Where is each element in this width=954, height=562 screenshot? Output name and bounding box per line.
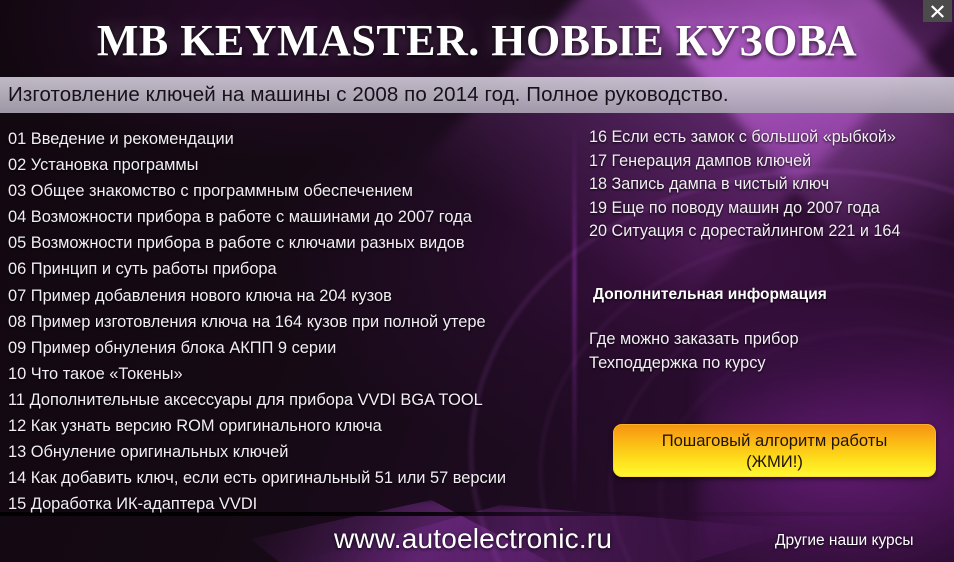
list-item: 18 Запись дампа в чистый ключ: [589, 173, 945, 197]
list-item: 01 Введение и рекомендации: [8, 126, 564, 152]
website-url[interactable]: www.autoelectronic.ru: [334, 523, 612, 555]
close-button[interactable]: [923, 0, 952, 22]
cta-line-1: Пошаговый алгоритм работы: [662, 430, 888, 451]
close-icon: [930, 4, 945, 19]
list-item: 07 Пример добавления нового ключа на 204…: [8, 283, 564, 309]
list-item: 11 Дополнительные аксессуары для прибора…: [8, 387, 564, 413]
list-item: 20 Ситуация с дорестайлингом 221 и 164: [589, 220, 945, 244]
list-item: Техподдержка по курсу: [589, 352, 799, 376]
subtitle-bar: Изготовление ключей на машины с 2008 по …: [0, 77, 954, 113]
list-item: 15 Доработка ИК-адаптера VVDI: [8, 491, 564, 517]
additional-info-heading: Дополнительная информация: [593, 286, 827, 304]
list-item: 06 Принцип и суть работы прибора: [8, 256, 564, 282]
additional-info-list: Где можно заказать прибор Техподдержка п…: [589, 328, 799, 375]
cta-line-2: (ЖМИ!): [746, 451, 803, 472]
list-item: 03 Общее знакомство с программным обеспе…: [8, 178, 564, 204]
list-item: 17 Генерация дампов ключей: [589, 150, 945, 174]
title-band: MB KEYMASTER. НОВЫЕ КУЗОВА: [0, 0, 954, 77]
contents-left-column: 01 Введение и рекомендации 02 Установка …: [8, 126, 564, 517]
list-item: 10 Что такое «Токены»: [8, 361, 564, 387]
list-item: 08 Пример изготовления ключа на 164 кузо…: [8, 309, 564, 335]
subtitle-text: Изготовление ключей на машины с 2008 по …: [8, 83, 729, 107]
list-item: 05 Возможности прибора в работе с ключам…: [8, 230, 564, 256]
list-item: 13 Обнуление оригинальных ключей: [8, 439, 564, 465]
list-item: Где можно заказать прибор: [589, 328, 799, 352]
list-item: 02 Установка программы: [8, 152, 564, 178]
contents-right-column: 16 Если есть замок с большой «рыбкой» 17…: [589, 126, 945, 244]
list-item: 19 Еще по поводу машин до 2007 года: [589, 197, 945, 221]
column-divider: [573, 120, 576, 510]
presentation-slide: MB KEYMASTER. НОВЫЕ КУЗОВА Изготовление …: [0, 0, 954, 562]
list-item: 04 Возможности прибора в работе с машина…: [8, 204, 564, 230]
list-item: 12 Как узнать версию ROM оригинального к…: [8, 413, 564, 439]
page-title: MB KEYMASTER. НОВЫЕ КУЗОВА: [97, 15, 857, 63]
list-item: 14 Как добавить ключ, если есть оригинал…: [8, 465, 564, 491]
step-by-step-algorithm-button[interactable]: Пошаговый алгоритм работы (ЖМИ!): [613, 424, 936, 477]
other-courses-link[interactable]: Другие наши курсы: [775, 532, 914, 550]
list-item: 16 Если есть замок с большой «рыбкой»: [589, 126, 945, 150]
list-item: 09 Пример обнуления блока АКПП 9 серии: [8, 335, 564, 361]
